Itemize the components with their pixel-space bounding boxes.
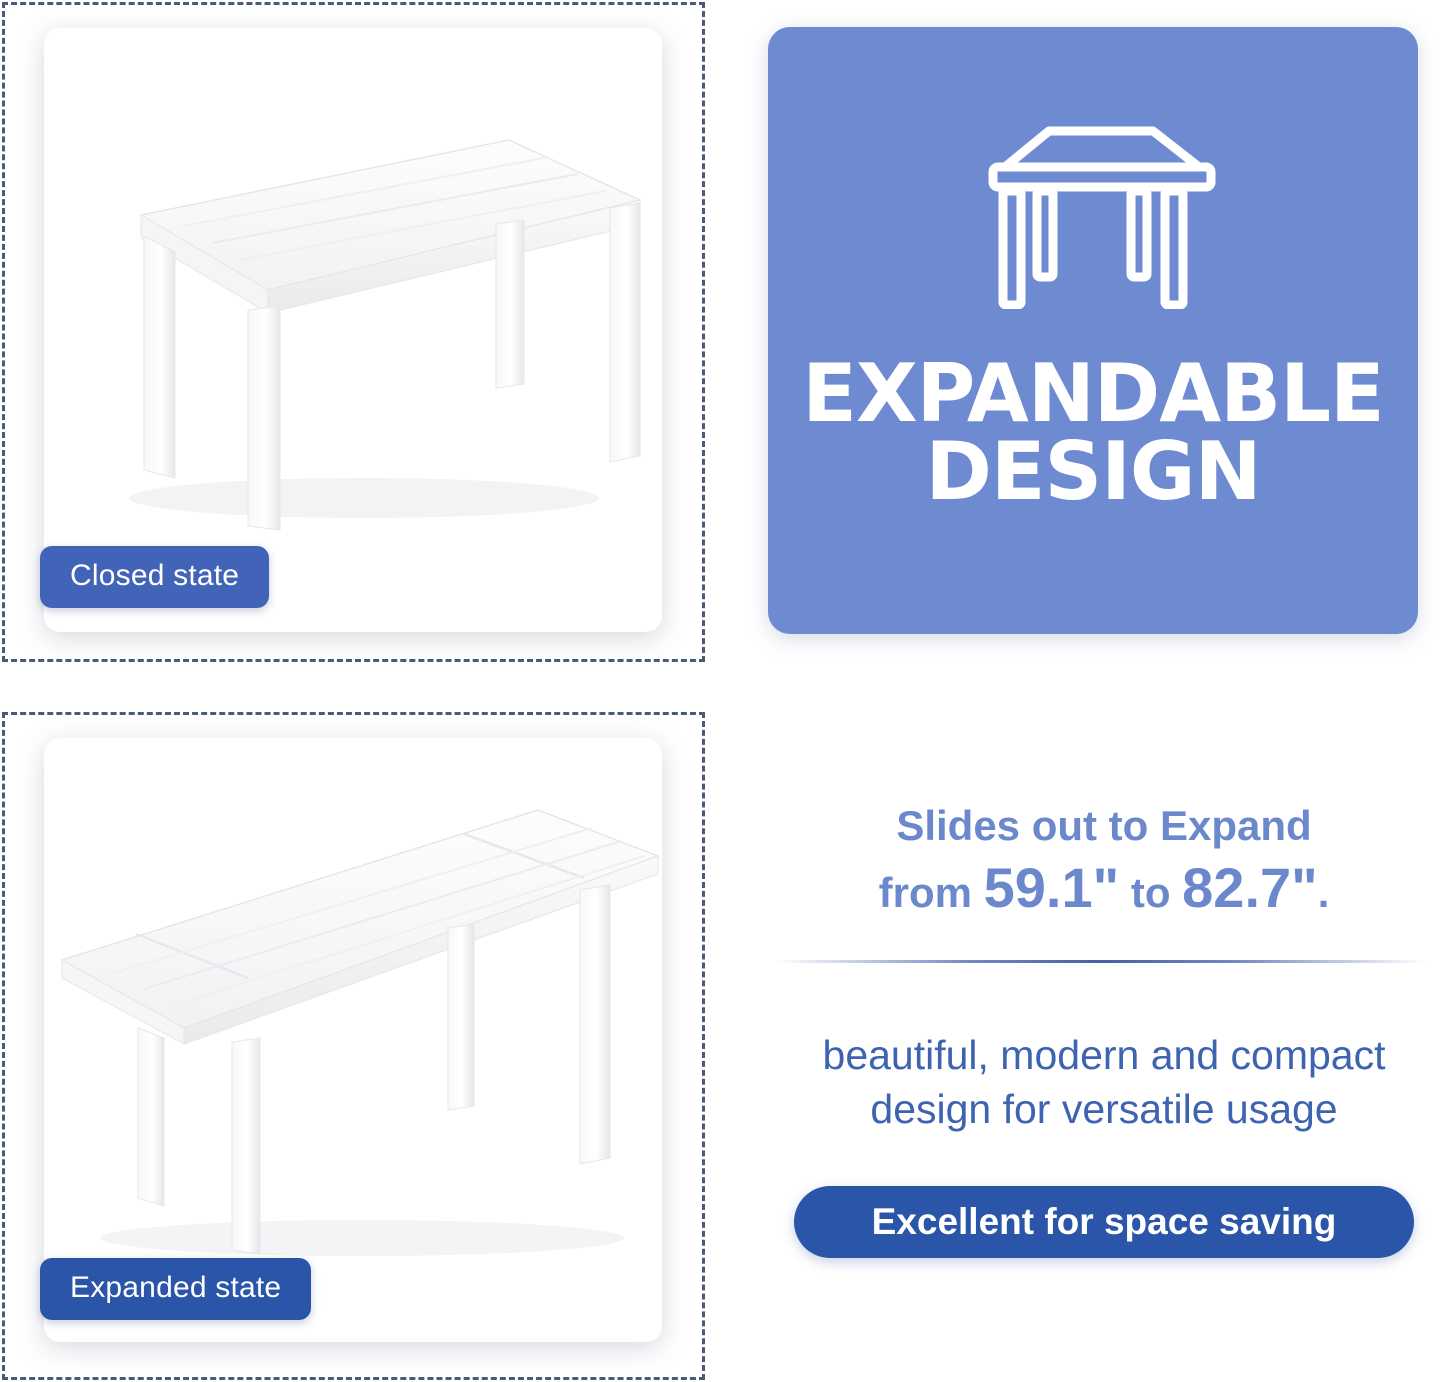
design-description: beautiful, modern and compact design for… <box>760 1028 1448 1136</box>
hero-title: EXPANDABLE DESIGN <box>768 355 1418 512</box>
subcopy-line1: beautiful, modern and compact <box>823 1032 1386 1078</box>
table-icon <box>948 111 1238 311</box>
expanded-table-photo <box>44 738 662 1342</box>
space-saving-badge: Excellent for space saving <box>794 1186 1414 1258</box>
expandable-design-hero-panel: EXPANDABLE DESIGN <box>768 27 1418 634</box>
expand-size-headline: Slides out to Expand from 59.1" to 82.7"… <box>760 800 1448 923</box>
headline-suffix: . <box>1318 869 1330 916</box>
expanded-state-photo-card: Expanded state <box>44 738 662 1342</box>
expanded-state-badge: Expanded state <box>40 1258 311 1320</box>
cta-label: Excellent for space saving <box>872 1201 1337 1243</box>
closed-state-photo-card: Closed state <box>44 28 662 632</box>
headline-prefix: from <box>879 869 984 916</box>
headline-measurements: from 59.1" to 82.7". <box>760 853 1448 923</box>
hero-title-line2: DESIGN <box>768 433 1418 511</box>
headline-middle: to <box>1119 869 1182 916</box>
size-min: 59.1" <box>984 856 1120 919</box>
closed-state-badge: Closed state <box>40 546 269 608</box>
right-content-column: EXPANDABLE DESIGN Slides out to Expand f… <box>760 0 1448 1382</box>
closed-table-photo <box>44 28 662 632</box>
size-max: 82.7" <box>1182 856 1318 919</box>
subcopy-line2: design for versatile usage <box>760 1082 1448 1136</box>
section-divider <box>776 960 1428 963</box>
headline-lead: Slides out to Expand <box>760 800 1448 853</box>
